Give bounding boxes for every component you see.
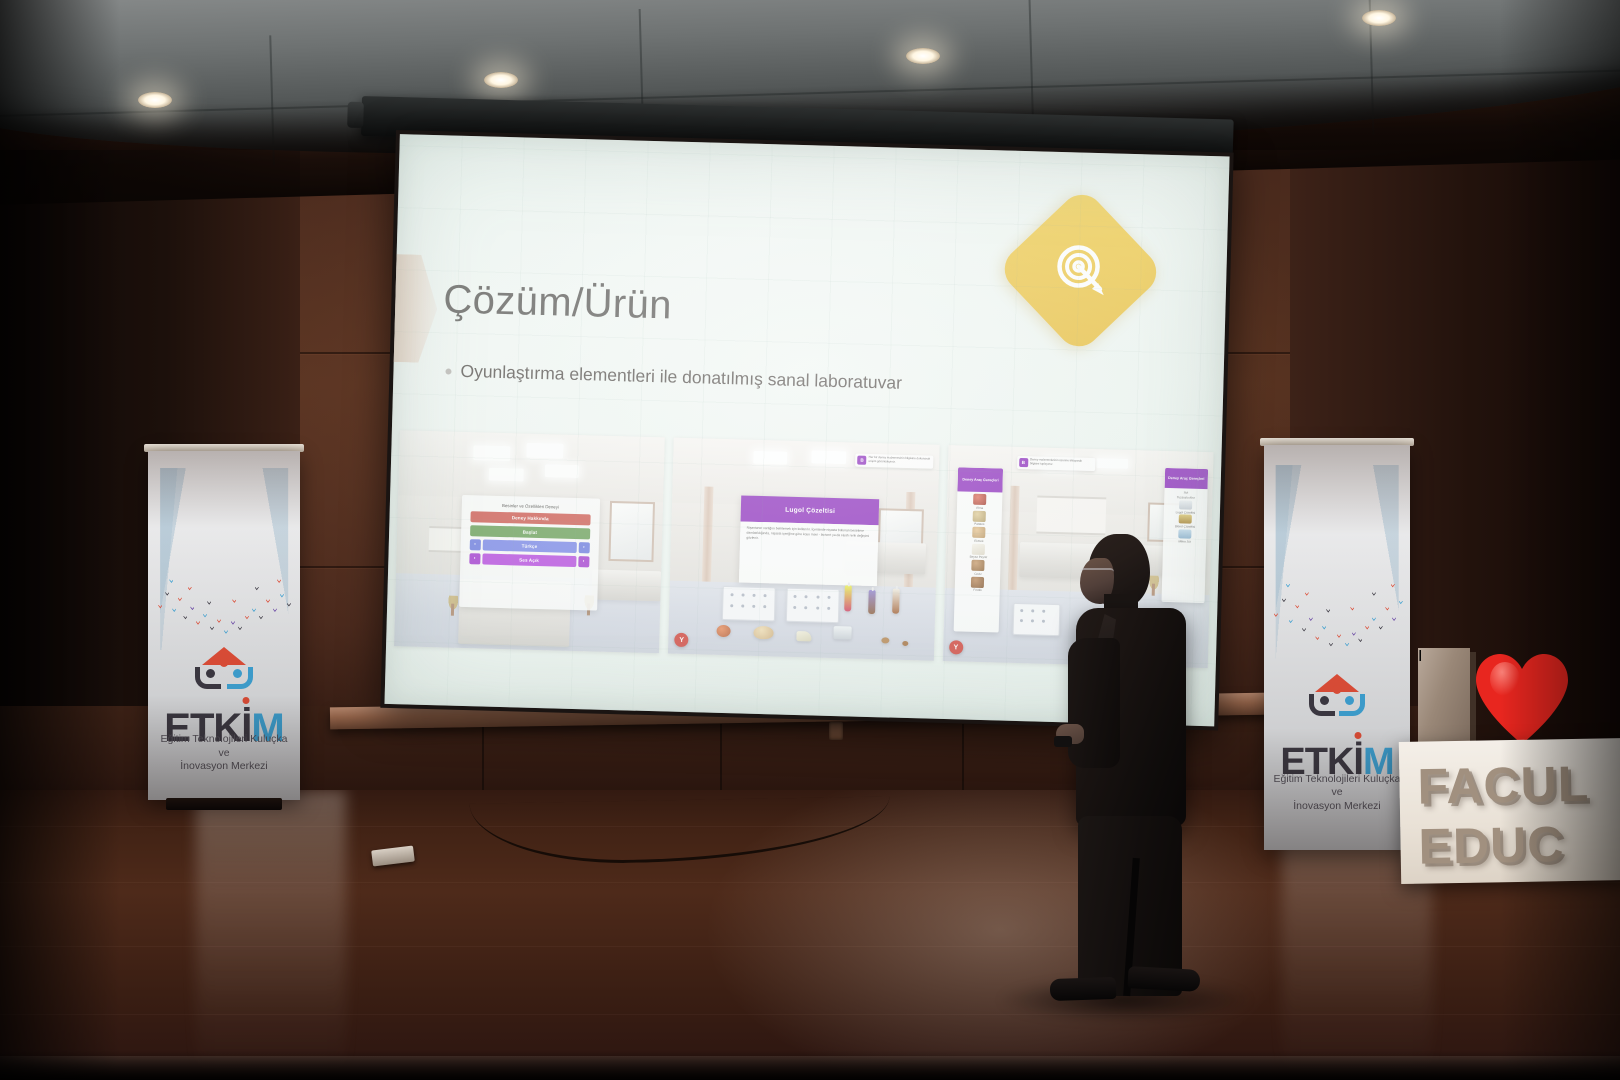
target-icon (1048, 238, 1114, 304)
item-thumb-bread (972, 527, 985, 538)
inventory-item-label: Ekmek (974, 538, 983, 542)
language-prev-arrow-icon[interactable]: ‹ (469, 539, 480, 550)
inventory-item[interactable]: Lugol Çözeltisi (1165, 510, 1206, 525)
milk-carton-prop (833, 626, 851, 639)
hint-badge: B Her bir deney malzemesinin bilgisine d… (855, 453, 933, 468)
inventory-panel-left[interactable]: Deney Araç Gereçleri Elma Patates (954, 467, 1004, 632)
inventory-panel-title: Deney Araç Gereçleri (958, 467, 1004, 493)
banner-base (166, 798, 282, 810)
bread-prop (754, 626, 774, 640)
auditorium-scene: Çözüm/Ürün Oyunlaştırma elementleri ile … (0, 0, 1620, 1080)
inventory-item-label: Patates (974, 522, 984, 526)
sign-letter-i: I (1418, 648, 1470, 756)
reagent-bottle-1 (845, 585, 853, 611)
hint-badge: B Deney malzemelerinin üzerine tıklayara… (1017, 456, 1095, 471)
dialog-body: Nişastanın varlığını belirlemek için kul… (739, 522, 879, 586)
dialog-title: Lugol Çözeltisi (741, 496, 880, 526)
wall-outlet (829, 722, 843, 740)
menu-row-language: ‹ Türkçe › (469, 539, 589, 553)
banner-subtitle: Eğitim Teknolojileri Kuluçka ve İnovasyo… (1273, 773, 1402, 814)
banner-subtitle-line-2: İnovasyon Merkezi (157, 760, 291, 774)
sound-prev-arrow-icon[interactable]: ‹ (469, 553, 480, 564)
presenter-shoe-right (1127, 966, 1200, 992)
banner-subtitle-line-1: Eğitim Teknolojileri Kuluçka ve (157, 733, 291, 760)
test-tube-rack-1 (722, 586, 776, 622)
birds-flock-icon (154, 556, 294, 647)
inventory-item-label: Fındık (973, 588, 981, 592)
target-badge (996, 186, 1166, 356)
banner-left-etkim: ETKİM Eğitim Teknolojileri Kuluçka ve İn… (148, 444, 300, 800)
apple-prop (716, 625, 730, 637)
reagent-bottle-3 (892, 588, 900, 613)
inventory-item-label: Ceviz (974, 572, 982, 576)
cheese-prop (796, 631, 811, 641)
item-thumb-cheese (972, 543, 985, 554)
test-tube-rack-2 (786, 588, 840, 624)
house-people-icon (193, 647, 255, 695)
presenter (1032, 528, 1212, 1028)
presenter-shoe-left (1050, 977, 1117, 1001)
language-next-arrow-icon[interactable]: › (578, 542, 589, 553)
screenshot-main-menu[interactable]: Besinler ve Özellikleri Deneyi Deney Hak… (394, 430, 665, 653)
inventory-item[interactable]: Patates (958, 510, 1001, 527)
menu-button-language[interactable]: Türkçe (482, 539, 576, 553)
banner-subtitle-line-1: Eğitim Teknolojileri Kuluçka ve (1273, 773, 1402, 800)
inventory-item-label: Elma (976, 506, 983, 510)
banner-face: ETKİM Eğitim Teknolojileri Kuluçka ve İn… (1264, 445, 1410, 850)
menu-button-about[interactable]: Deney Hakkında (470, 511, 590, 525)
lab-main-menu-panel[interactable]: Besinler ve Özellikleri Deneyi Deney Hak… (459, 495, 600, 611)
presentation-remote[interactable] (1054, 736, 1072, 747)
dialog-text: Nişastanın varlığını belirlemek için kul… (746, 526, 872, 544)
screenshot-lugol-dialog[interactable]: Lugol Çözeltisi Nişastanın varlığını bel… (668, 438, 939, 661)
banner-subtitle-line-2: İnovasyon Merkezi (1273, 800, 1402, 814)
banner-subtitle: Eğitim Teknolojileri Kuluçka ve İnovasyo… (157, 733, 291, 774)
menu-button-sound[interactable]: Ses Açık (482, 553, 576, 567)
birds-flock-icon (1270, 558, 1404, 663)
slide-chevron-decoration (390, 254, 439, 363)
hazelnut-prop (902, 640, 908, 645)
downlight-4 (1362, 10, 1396, 26)
reagent-bottle-2 (868, 590, 876, 614)
slide-bullet-text: Oyunlaştırma elementleri ile donatılmış … (460, 361, 902, 394)
sound-next-arrow-icon[interactable]: › (578, 556, 589, 567)
bullet-dot-icon (445, 368, 451, 374)
hint-key-badge: B (857, 455, 866, 464)
house-people-icon (1307, 674, 1367, 720)
item-thumb-hazelnut (971, 576, 984, 587)
item-thumb-potato (973, 510, 986, 521)
hint-key-badge: B (1019, 458, 1028, 467)
banner-face: ETKİM Eğitim Teknolojileri Kuluçka ve İn… (148, 451, 300, 800)
item-thumb-lugol (1179, 515, 1192, 524)
slide-title: Çözüm/Ürün (443, 277, 673, 328)
menu-panel-title: Besinler ve Özellikleri Deneyi (471, 502, 591, 510)
hint-text: Deney malzemelerinin üzerine tıklayarak … (1030, 458, 1092, 468)
menu-row-sound: ‹ Ses Açık › (469, 553, 589, 567)
hint-text: Her bir deney malzemesinin bilgisine dok… (869, 456, 931, 466)
inventory-item-label: Tuzsuzlu Ahır (1177, 496, 1195, 500)
item-thumb-apple (973, 494, 986, 505)
downlight-3 (906, 48, 940, 64)
presenter-arm (1068, 638, 1120, 768)
inventory-item-label: Sut (1184, 491, 1189, 495)
inventory-item[interactable]: Elma (958, 494, 1001, 511)
inventory-right-title: Deney Araç Gereçleri (1165, 468, 1208, 489)
downlight-1 (138, 92, 172, 108)
vignette-bottom (0, 1050, 1620, 1080)
glasses-icon (1080, 568, 1114, 577)
inventory-item[interactable]: Tuzsuzlu Ahır (1165, 495, 1206, 510)
downlight-2 (484, 72, 518, 88)
item-thumb-glass (1179, 500, 1192, 509)
inventory-item[interactable]: Ceviz (956, 560, 999, 577)
lugol-dialog[interactable]: Lugol Çözeltisi Nişastanın varlığını bel… (739, 496, 879, 586)
slide-bullet-item: Oyunlaştırma elementleri ile donatılmış … (445, 360, 902, 393)
inventory-item[interactable]: Beyaz Peynir (957, 543, 1000, 560)
inventory-item-label: Beyaz Peynir (970, 555, 988, 559)
inventory-item-list: Elma Patates Ekmek (955, 492, 1003, 595)
item-thumb-walnut (972, 560, 985, 571)
action-button-y[interactable]: Y (949, 640, 963, 654)
menu-button-start[interactable]: Başlat (470, 525, 590, 539)
banner-right-etkim: ETKİM Eğitim Teknolojileri Kuluçka ve İn… (1264, 438, 1410, 850)
inventory-item[interactable]: Ekmek (957, 527, 1000, 544)
inventory-item[interactable]: Fındık (956, 576, 999, 593)
vignette-right (1500, 0, 1620, 1080)
vignette-left (0, 0, 120, 1080)
